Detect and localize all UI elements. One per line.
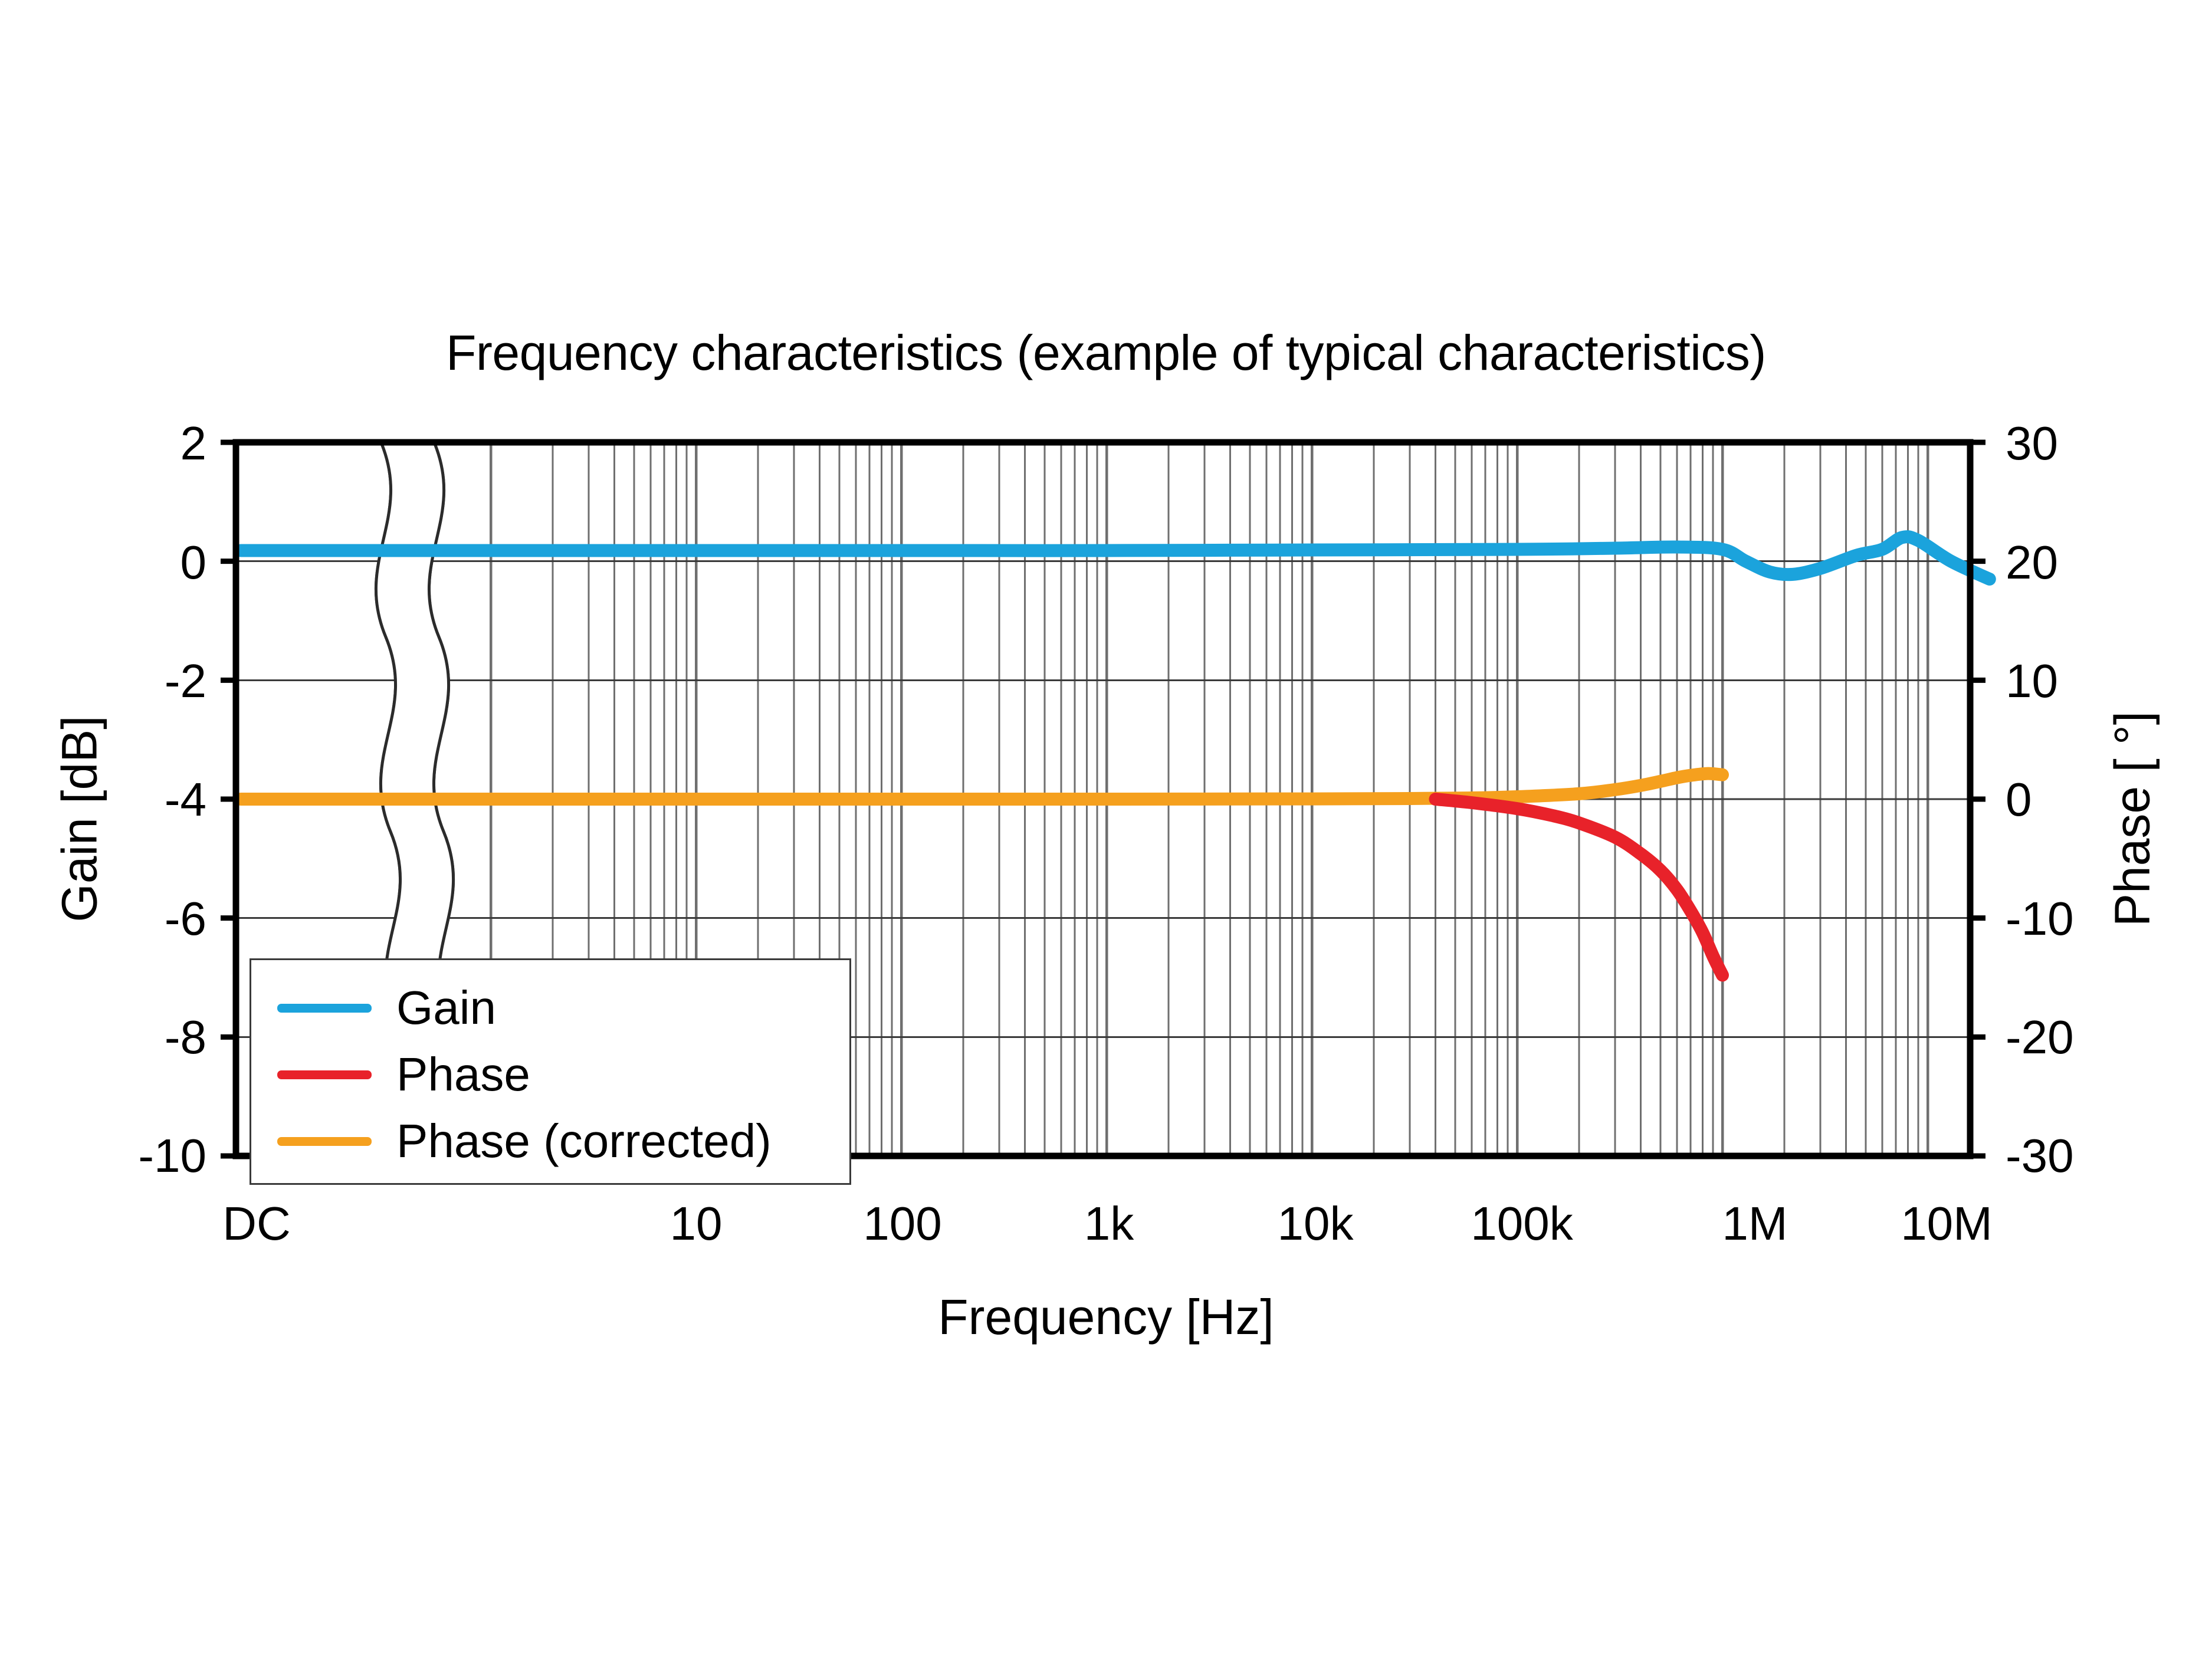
legend-item-gain[interactable]: Gain	[251, 973, 849, 1043]
x-tick-10M: 10M	[1858, 1200, 2035, 1247]
legend-swatch-gain	[277, 1004, 372, 1013]
legend-swatch-phase-corrected	[277, 1137, 372, 1146]
y-right-tick--10: -10	[2006, 895, 2074, 942]
legend-label-gain: Gain	[396, 984, 496, 1031]
y-right-tick-10: 10	[2006, 658, 2058, 705]
y-right-tick--30: -30	[2006, 1132, 2074, 1180]
legend-label-phase-corrected: Phase (corrected)	[396, 1118, 772, 1165]
data-series-layer	[241, 537, 1990, 975]
x-tick-100: 100	[814, 1200, 991, 1247]
x-tick-10k: 10k	[1227, 1200, 1404, 1247]
x-tick-dc: DC	[168, 1200, 345, 1247]
legend-item-phase-corrected[interactable]: Phase (corrected)	[251, 1106, 849, 1176]
legend: Gain Phase Phase (corrected)	[250, 958, 851, 1185]
y-right-tick-20: 20	[2006, 539, 2058, 586]
x-tick-100k: 100k	[1433, 1200, 1610, 1247]
chart-figure: Frequency characteristics (example of ty…	[0, 0, 2212, 1659]
y-left-tick-0: 0	[24, 539, 206, 586]
x-axis-title: Frequency [Hz]	[0, 1289, 2212, 1346]
y-left-tick--10: -10	[24, 1132, 206, 1180]
x-tick-1k: 1k	[1020, 1200, 1197, 1247]
y-left-tick--8: -8	[24, 1014, 206, 1061]
y-axis-right-title: Phase [ °]	[2104, 613, 2161, 1026]
y-right-tick--20: -20	[2006, 1014, 2074, 1061]
plot-area	[0, 0, 2212, 1659]
y-left-tick--2: -2	[24, 658, 206, 705]
y-left-tick--6: -6	[24, 895, 206, 942]
y-right-tick-30: 30	[2006, 420, 2058, 467]
y-left-tick-2: 2	[24, 420, 206, 467]
x-tick-10: 10	[608, 1200, 785, 1247]
legend-item-phase[interactable]: Phase	[251, 1040, 849, 1109]
x-tick-1M: 1M	[1666, 1200, 1843, 1247]
y-left-tick--4: -4	[24, 776, 206, 823]
y-right-tick-0: 0	[2006, 776, 2032, 823]
legend-swatch-phase	[277, 1070, 372, 1079]
legend-label-phase: Phase	[396, 1051, 530, 1098]
